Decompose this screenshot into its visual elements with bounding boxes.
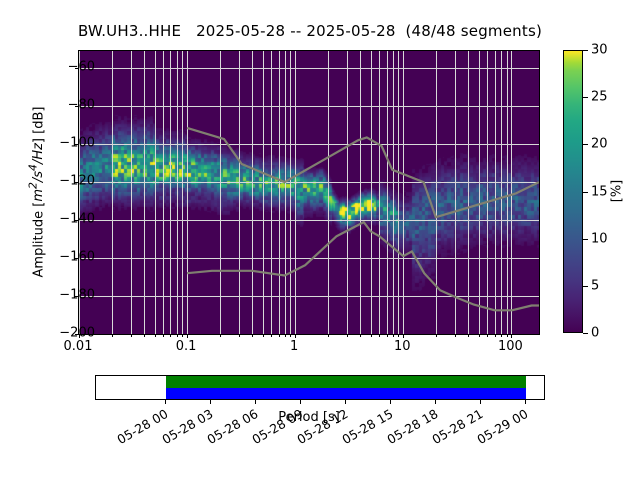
x-tick-minor	[177, 334, 178, 337]
x-tick-minor	[347, 334, 348, 337]
x-tick-minor	[131, 334, 132, 337]
x-tick-minor	[393, 334, 394, 337]
colorbar-tick-label: 5	[591, 278, 599, 293]
nlnm-curve	[187, 222, 539, 310]
y-tick-label: −80	[35, 98, 95, 113]
timeline-tick-mark	[210, 400, 211, 404]
x-tick-minor	[479, 334, 480, 337]
x-tick-minor	[501, 334, 502, 337]
x-tick-minor	[468, 334, 469, 337]
colorbar-tick-label: 25	[591, 90, 608, 105]
x-tick-minor	[182, 334, 183, 337]
x-tick-minor	[252, 334, 253, 337]
x-tick-minor	[285, 334, 286, 337]
x-tick-label: 10	[394, 339, 411, 354]
colorbar-tick-label: 20	[591, 137, 608, 152]
colorbar-tick-label: 0	[591, 326, 599, 341]
x-tick-major	[403, 334, 404, 338]
x-tick-major	[295, 334, 296, 338]
noise-model-curves	[79, 51, 539, 334]
colorbar-tick-mark	[583, 50, 588, 51]
x-tick-minor	[455, 334, 456, 337]
colorbar-tick-mark	[583, 333, 588, 334]
x-tick-minor	[163, 334, 164, 337]
x-tick-minor	[290, 334, 291, 337]
colorbar-tick-label: 10	[591, 231, 608, 246]
y-tick-label: −100	[35, 136, 95, 151]
x-tick-minor	[155, 334, 156, 337]
colorbar-label: [%]	[610, 180, 625, 203]
colorbar-tick-label: 30	[591, 43, 608, 58]
x-tick-minor	[387, 334, 388, 337]
x-tick-major	[511, 334, 512, 338]
ppsd-figure: BW.UH3..HHE 2025-05-28 -- 2025-05-28 (48…	[0, 0, 640, 480]
x-tick-minor	[495, 334, 496, 337]
colorbar-gradient	[563, 50, 583, 333]
x-tick-minor	[487, 334, 488, 337]
x-tick-minor	[507, 334, 508, 337]
colorbar-tick-mark	[583, 192, 588, 193]
ppsd-plot-area: Period [s] Amplitude [m2/s4/Hz] [dB]	[78, 50, 540, 335]
x-tick-minor	[170, 334, 171, 337]
x-tick-minor	[112, 334, 113, 337]
nhnm-curve	[187, 128, 539, 217]
x-tick-minor	[239, 334, 240, 337]
y-tick-label: −140	[35, 212, 95, 227]
x-tick-minor	[144, 334, 145, 337]
x-tick-label: 1	[290, 339, 298, 354]
y-tick-label: −120	[35, 174, 95, 189]
x-tick-minor	[379, 334, 380, 337]
colorbar-tick-mark	[583, 286, 588, 287]
y-tick-label: −180	[35, 288, 95, 303]
y-tick-label: −60	[35, 60, 95, 75]
x-tick-label: 100	[498, 339, 523, 354]
x-tick-minor	[263, 334, 264, 337]
x-tick-label: 0.1	[176, 339, 197, 354]
colorbar-tick-mark	[583, 144, 588, 145]
x-tick-minor	[360, 334, 361, 337]
y-tick-label: −160	[35, 250, 95, 265]
page-title: BW.UH3..HHE 2025-05-28 -- 2025-05-28 (48…	[0, 22, 620, 40]
x-tick-minor	[328, 334, 329, 337]
coverage-timeline	[95, 375, 545, 400]
x-tick-minor	[271, 334, 272, 337]
timeline-tick-mark	[435, 400, 436, 404]
timeline-tick-mark	[480, 400, 481, 404]
coverage-bar-segments	[166, 388, 526, 400]
x-tick-minor	[398, 334, 399, 337]
ppsd-clip	[79, 51, 539, 334]
timeline-tick-mark	[390, 400, 391, 404]
timeline-tick-mark	[165, 400, 166, 404]
x-tick-minor	[279, 334, 280, 337]
timeline-tick-mark	[525, 400, 526, 404]
colorbar: 051015202530 [%]	[563, 50, 583, 333]
x-tick-minor	[371, 334, 372, 337]
x-tick-minor	[436, 334, 437, 337]
x-tick-label: 0.01	[64, 339, 93, 354]
x-tick-major	[187, 334, 188, 338]
timeline-tick-mark	[300, 400, 301, 404]
timeline-tick-mark	[345, 400, 346, 404]
colorbar-tick-mark	[583, 239, 588, 240]
colorbar-tick-label: 15	[591, 184, 608, 199]
x-tick-minor	[220, 334, 221, 337]
coverage-bar-data	[166, 376, 526, 388]
timeline-tick-mark	[255, 400, 256, 404]
colorbar-tick-mark	[583, 97, 588, 98]
